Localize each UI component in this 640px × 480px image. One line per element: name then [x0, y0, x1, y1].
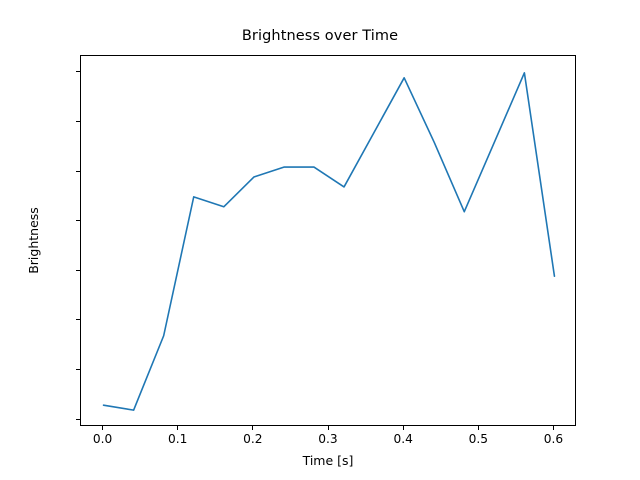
chart-title: Brightness over Time: [0, 28, 640, 44]
figure-canvas: Brightness over Time 8090100110120130140…: [0, 0, 640, 480]
x-tick-label: 0.1: [168, 432, 187, 446]
x-tick-mark: [177, 426, 178, 430]
y-tick-mark: [76, 121, 80, 122]
y-axis-label: Brightness: [26, 55, 42, 426]
y-tick-mark: [76, 270, 80, 271]
y-tick-mark: [76, 319, 80, 320]
x-tick-label: 0.0: [93, 432, 112, 446]
x-tick-mark: [553, 426, 554, 430]
y-tick-mark: [76, 171, 80, 172]
data-line-path: [104, 73, 555, 410]
line-series-brightness: [81, 56, 577, 427]
y-tick-mark: [76, 71, 80, 72]
y-tick-mark: [76, 419, 80, 420]
plot-area: [80, 55, 576, 426]
x-tick-label: 0.4: [393, 432, 412, 446]
x-tick-label: 0.3: [318, 432, 337, 446]
x-tick-mark: [102, 426, 103, 430]
x-axis-label: Time [s]: [80, 453, 576, 468]
x-tick-label: 0.6: [544, 432, 563, 446]
x-tick-mark: [478, 426, 479, 430]
x-tick-label: 0.2: [243, 432, 262, 446]
y-tick-mark: [76, 220, 80, 221]
x-tick-label: 0.5: [469, 432, 488, 446]
x-tick-mark: [328, 426, 329, 430]
x-tick-mark: [403, 426, 404, 430]
y-tick-mark: [76, 369, 80, 370]
x-tick-mark: [252, 426, 253, 430]
